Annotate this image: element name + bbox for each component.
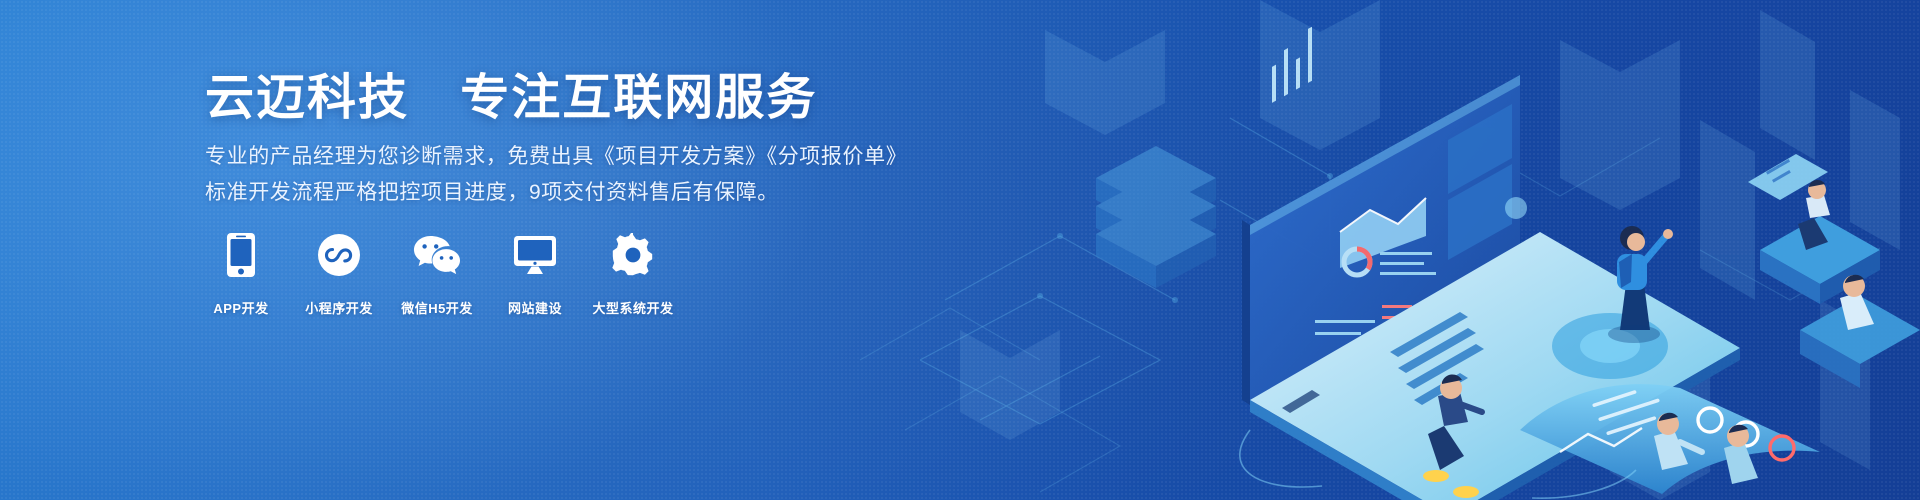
service-item-website[interactable]: 网站建设 <box>499 232 571 317</box>
service-label: 小程序开发 <box>305 298 373 317</box>
subtitle-line-1: 专业的产品经理为您诊断需求，免费出具《项目开发方案》《分项报价单》 <box>205 146 907 167</box>
service-list: APP开发 小程序开发 <box>205 232 669 317</box>
headline-brand: 云迈科技 <box>205 71 409 125</box>
subtitle-line-2: 标准开发流程严格把控项目进度，9项交付资料售后有保障。 <box>205 182 779 203</box>
promo-banner: 云迈科技 专注互联网服务 专业的产品经理为您诊断需求，免费出具《项目开发方案》《… <box>0 0 1920 500</box>
headline-tagline: 专注互联网服务 <box>460 71 817 125</box>
page-title: 云迈科技 专注互联网服务 <box>205 72 817 126</box>
service-label: 微信H5开发 <box>401 298 473 317</box>
mobile-phone-icon <box>225 232 257 278</box>
service-item-mini-program[interactable]: 小程序开发 <box>303 232 375 317</box>
wechat-icon <box>412 232 462 278</box>
service-item-wechat[interactable]: 微信H5开发 <box>401 232 473 317</box>
service-label: APP开发 <box>213 298 268 317</box>
isometric-tech-scene <box>920 0 1920 500</box>
hero-illustration <box>920 0 1920 500</box>
service-label: 大型系统开发 <box>593 298 674 317</box>
service-label: 网站建设 <box>508 298 562 317</box>
mini-program-icon <box>317 232 361 278</box>
monitor-icon <box>512 232 558 278</box>
service-item-large-system[interactable]: 大型系统开发 <box>597 232 669 317</box>
gear-icon <box>611 232 655 278</box>
banner-content: 云迈科技 专注互联网服务 专业的产品经理为您诊断需求，免费出具《项目开发方案》《… <box>205 0 965 500</box>
service-item-app[interactable]: APP开发 <box>205 232 277 317</box>
